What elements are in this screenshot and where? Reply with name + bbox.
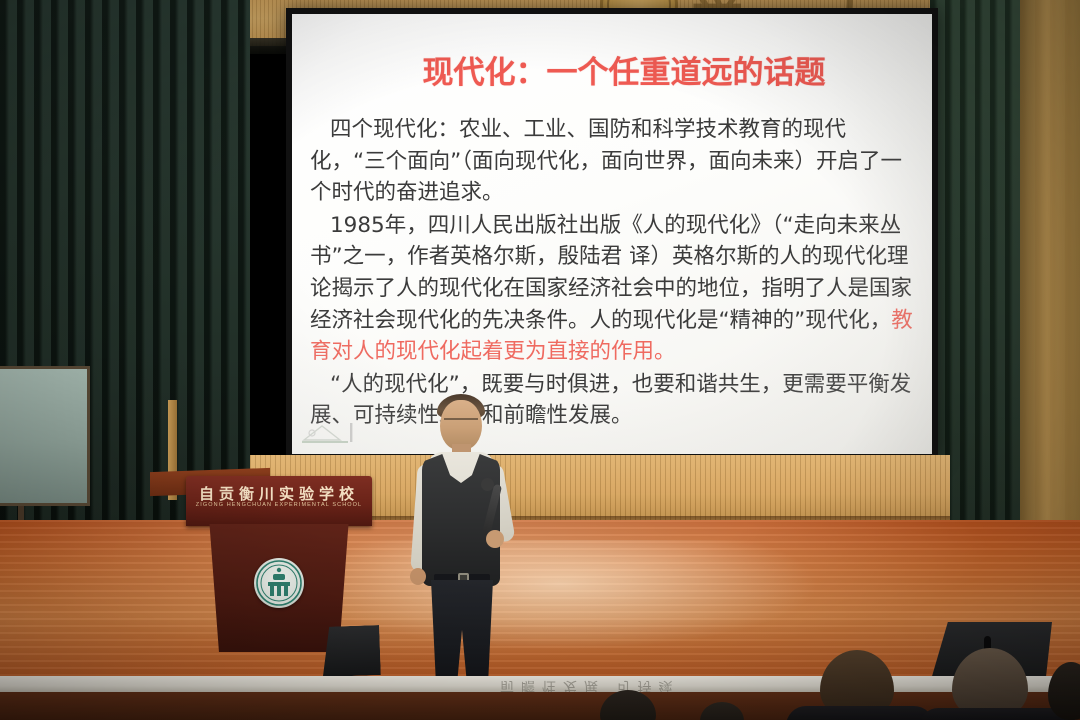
microphone-capsule <box>481 478 494 491</box>
speaker-person <box>398 392 524 690</box>
slide-run-p1-r0: 四个现代化：农业、工业、国防和科学技术教育的现代化，“三个面向”（面向现代化，面… <box>310 117 902 205</box>
speaker-hand-left <box>410 568 426 585</box>
speaker-hand-right <box>486 530 504 548</box>
slide-body: 四个现代化：农业、工业、国防和科学技术教育的现代化，“三个面向”（面向现代化，面… <box>310 114 920 433</box>
stage-curtain-right-lit <box>1020 0 1080 600</box>
slide-run-p2-r0: 1985年，四川人民出版社出版《人的现代化》（“走向未来丛书”之一，作者英格尔斯… <box>310 213 912 333</box>
stage-floor <box>0 520 1080 680</box>
projection-screen: 现代化：一个任重道远的话题 四个现代化：农业、工业、国防和科学技术教育的现代化，… <box>292 14 932 454</box>
podium-nameplate: 自贡衡川实验学校 ZIGONG HENGCHUAN EXPERIMENTAL S… <box>186 476 372 526</box>
whiteboard-panel <box>0 366 90 506</box>
audience-shoulders-1 <box>786 706 934 720</box>
slide-corner-logo-icon <box>300 420 362 446</box>
podium-school-name-cn: 自贡衡川实验学校 <box>186 483 372 504</box>
podium-school-name-en: ZIGONG HENGCHUAN EXPERIMENTAL SCHOOL <box>186 502 372 508</box>
slide-title: 现代化：一个任重道远的话题 <box>344 56 904 91</box>
speaker-trousers <box>431 580 493 684</box>
podium: 自贡衡川实验学校 ZIGONG HENGCHUAN EXPERIMENTAL S… <box>186 476 372 652</box>
slide-paragraph-2: 1985年，四川人民出版社出版《人的现代化》（“走向未来丛书”之一，作者英格尔斯… <box>310 210 920 368</box>
school-crest-emblem <box>254 558 304 608</box>
stage-monitor-left <box>321 625 381 677</box>
slide-paragraph-1: 四个现代化：农业、工业、国防和科学技术教育的现代化，“三个面向”（面向现代化，面… <box>310 114 920 209</box>
auditorium-scene: 学 大 现代化：一个任重道远的话题 四个现代化：农业、工业、国防和科学技术教育的… <box>0 0 1080 720</box>
speaker-glasses <box>444 418 478 427</box>
